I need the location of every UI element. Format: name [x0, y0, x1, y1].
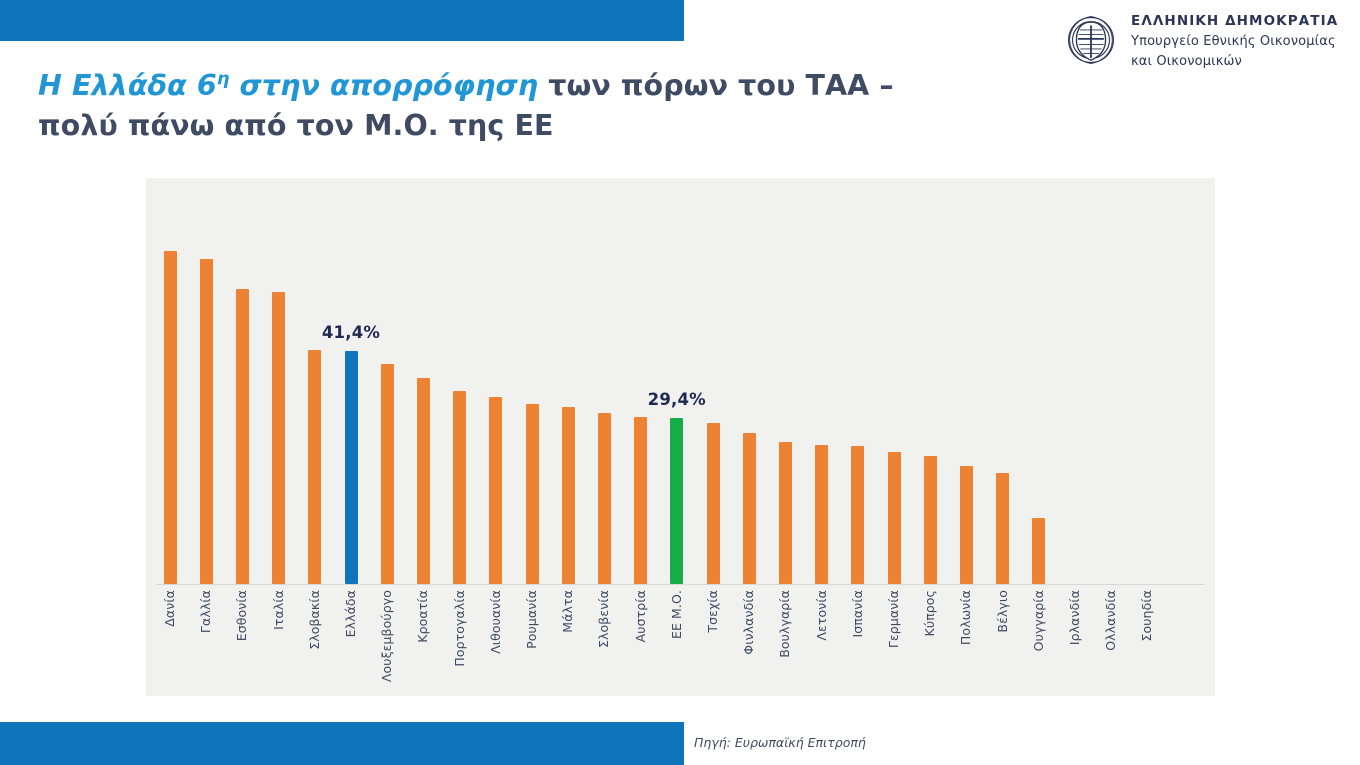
title-highlight-part: Η Ελλάδα 6	[38, 69, 217, 102]
greek-coat-of-arms-icon	[1063, 12, 1119, 68]
x-axis-label: Τσεχία	[705, 590, 721, 633]
bar-Αυστρία	[634, 417, 647, 584]
x-axis-label: Λιθουανία	[488, 590, 504, 654]
bar-ΕΕ Μ.Ο.	[670, 418, 683, 584]
x-axis-label: Δανία	[162, 590, 178, 627]
x-axis-label: Σλοβακία	[307, 590, 323, 650]
bar-Λουξεμβούργο	[381, 364, 394, 584]
bar-chart: ΔανίαΓαλλίαΕσθονίαΙταλίαΣλοβακίαΕλλάδαΛο…	[146, 178, 1215, 696]
bar-Δανία	[164, 251, 177, 584]
bar-Μάλτα	[562, 407, 575, 584]
x-axis-label: Πολωνία	[958, 590, 974, 645]
x-axis-label: Αυστρία	[633, 590, 649, 642]
bar-Ελλάδα	[345, 351, 358, 584]
title-highlight-rest: στην απορρόφηση	[229, 69, 538, 102]
x-axis-label: Ισπανία	[850, 590, 866, 638]
bar-Ιταλία	[272, 292, 285, 584]
bar-Ρουμανία	[526, 404, 539, 584]
x-axis-label: Βουλγαρία	[777, 590, 793, 658]
logo-line-republic: ΕΛΛΗΝΙΚΗ ΔΗΜΟΚΡΑΤΙΑ	[1131, 13, 1338, 29]
x-axis-label: Γαλλία	[198, 590, 214, 633]
x-axis-label: Ιρλανδία	[1067, 590, 1083, 645]
bar-Ισπανία	[851, 446, 864, 584]
bar-Γερμανία	[888, 452, 901, 584]
x-axis-label: Σλοβενία	[596, 590, 612, 648]
bar-Λετονία	[815, 445, 828, 584]
x-axis-label: Σουηδία	[1139, 590, 1155, 642]
x-axis-label: Ιταλία	[271, 590, 287, 630]
source-note: Πηγή: Ευρωπαϊκή Επιτροπή	[694, 735, 866, 750]
logo-line-ministry-2: και Οικονομικών	[1131, 54, 1242, 69]
x-axis-label: Ελλάδα	[343, 590, 359, 637]
x-axis-label: Κύπρος	[922, 590, 938, 636]
title-rest-line1: των πόρων του ΤΑΑ –	[538, 69, 894, 102]
bar-Φινλανδία	[743, 433, 756, 584]
logo-line-ministry-1: Υπουργείο Εθνικής Οικονομίας	[1131, 34, 1336, 49]
bar-Κροατία	[417, 378, 430, 584]
x-axis-label: Εσθονία	[234, 590, 250, 641]
x-axis-label: Πορτογαλία	[452, 590, 468, 667]
x-axis-label: Γερμανία	[886, 590, 902, 648]
bar-Ουγγαρία	[1032, 518, 1045, 584]
data-label-Ελλάδα: 41,4%	[322, 323, 380, 342]
chart-panel: ΔανίαΓαλλίαΕσθονίαΙταλίαΣλοβακίαΕλλάδαΛο…	[146, 178, 1215, 696]
x-axis-label: Ρουμανία	[524, 590, 540, 649]
data-label-ΕΕ Μ.Ο.: 29,4%	[648, 390, 706, 409]
footer-accent-bar	[0, 722, 684, 765]
bar-Τσεχία	[707, 423, 720, 584]
x-axis-label: Ολλανδία	[1103, 590, 1119, 651]
x-axis-label: Λουξεμβούργο	[379, 590, 395, 682]
bar-Λιθουανία	[489, 397, 502, 584]
x-axis-label: Κροατία	[415, 590, 431, 643]
bar-Πολωνία	[960, 466, 973, 584]
bar-Βουλγαρία	[779, 442, 792, 584]
bar-Εσθονία	[236, 289, 249, 584]
title-ordinal-suffix: η	[217, 70, 230, 90]
x-axis-label: Φινλανδία	[741, 590, 757, 655]
bar-Σλοβακία	[308, 350, 321, 584]
x-axis-label: Μάλτα	[560, 590, 576, 633]
bar-Σλοβενία	[598, 413, 611, 584]
slide: ΕΛΛΗΝΙΚΗ ΔΗΜΟΚΡΑΤΙΑ Υπουργείο Εθνικής Οι…	[0, 0, 1360, 765]
ministry-logo: ΕΛΛΗΝΙΚΗ ΔΗΜΟΚΡΑΤΙΑ Υπουργείο Εθνικής Οι…	[1063, 10, 1338, 71]
x-axis-label: ΕΕ Μ.Ο.	[669, 590, 685, 639]
bar-Πορτογαλία	[453, 391, 466, 584]
page-title: Η Ελλάδα 6η στην απορρόφηση των πόρων το…	[38, 66, 1018, 147]
bar-Βέλγιο	[996, 473, 1009, 584]
x-axis-label: Βέλγιο	[995, 590, 1011, 633]
x-axis-line	[156, 584, 1205, 585]
x-axis-label: Λετονία	[814, 590, 830, 641]
header-accent-bar	[0, 0, 684, 41]
title-line2: πολύ πάνω από τον Μ.Ο. της ΕΕ	[38, 109, 554, 142]
bar-Γαλλία	[200, 259, 213, 584]
x-axis-label: Ουγγαρία	[1031, 590, 1047, 651]
bar-Κύπρος	[924, 456, 937, 584]
